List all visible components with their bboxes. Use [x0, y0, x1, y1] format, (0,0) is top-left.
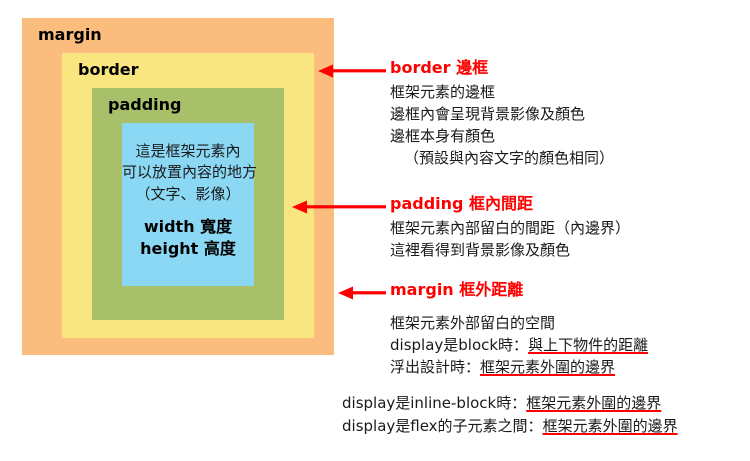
- annotation-line: 框架元素的邊框: [390, 81, 614, 103]
- annotation-line-prefix: 浮出設計時：: [390, 358, 480, 376]
- arrow-left-icon-padding: [292, 200, 386, 214]
- annotation-border: border 邊框 框架元素的邊框 邊框內會呈現背景影像及顏色 邊框本身有顏色 …: [390, 58, 614, 169]
- annotation-line-prefix: display是block時：: [390, 336, 528, 354]
- annotation-line: display是flex的子元素之間：框架元素外圍的邊界: [342, 415, 678, 438]
- annotation-border-body: 框架元素的邊框 邊框內會呈現背景影像及顏色 邊框本身有顏色 （預設與內容文字的顏…: [390, 81, 614, 169]
- padding-layer-label: padding: [108, 96, 181, 114]
- padding-layer: padding 這是框架元素內 可以放置內容的地方 （文字、影像） width …: [92, 88, 284, 320]
- annotation-line-prefix: display是inline-block時：: [342, 394, 526, 412]
- annotation-line: 浮出設計時：框架元素外圍的邊界: [390, 356, 648, 378]
- box-model-diagram: margin border padding 這是框架元素內 可以放置內容的地方 …: [0, 0, 750, 461]
- annotation-line-underlined: 框架元素外圍的邊界: [526, 394, 661, 412]
- content-layer: 這是框架元素內 可以放置內容的地方 （文字、影像） width 寬度 heigh…: [122, 123, 254, 286]
- annotation-margin-body: 框架元素外部留白的空間 display是block時：與上下物件的距離 浮出設計…: [390, 312, 648, 378]
- margin-layer-label: margin: [38, 26, 102, 44]
- annotation-line: display是inline-block時：框架元素外圍的邊界: [342, 392, 678, 415]
- annotation-line-underlined: 框架元素外圍的邊界: [543, 417, 678, 435]
- annotation-line: 邊框本身有顏色: [390, 125, 614, 147]
- annotation-line: 邊框內會呈現背景影像及顏色: [390, 103, 614, 125]
- annotation-line: 框架元素內部留白的間距（內邊界）: [390, 217, 630, 239]
- annotation-extra-lines: display是inline-block時：框架元素外圍的邊界 display是…: [342, 392, 678, 437]
- annotation-line: （預設與內容文字的顏色相同）: [390, 147, 614, 169]
- width-label: width 寬度: [122, 216, 254, 238]
- content-line: 這是框架元素內: [122, 141, 254, 162]
- margin-layer: margin border padding 這是框架元素內 可以放置內容的地方 …: [22, 18, 334, 355]
- border-layer: border padding 這是框架元素內 可以放置內容的地方 （文字、影像）…: [62, 53, 314, 338]
- content-dimensions: width 寬度 height 高度: [122, 216, 254, 260]
- annotation-line: display是block時：與上下物件的距離: [390, 334, 648, 356]
- arrow-left-icon-border: [318, 64, 386, 78]
- content-line: （文字、影像）: [122, 184, 254, 205]
- annotation-border-title: border 邊框: [390, 58, 614, 77]
- annotation-line: 這裡看得到背景影像及顏色: [390, 239, 630, 261]
- annotation-line-underlined: 框架元素外圍的邊界: [480, 358, 615, 376]
- annotation-padding-title: padding 框內間距: [390, 194, 630, 213]
- content-line: 可以放置內容的地方: [122, 162, 254, 183]
- annotation-line-prefix: display是flex的子元素之間：: [342, 417, 543, 435]
- arrow-left-icon-margin: [338, 286, 386, 300]
- annotation-line-underlined: 與上下物件的距離: [528, 336, 648, 354]
- annotation-padding: padding 框內間距 框架元素內部留白的間距（內邊界） 這裡看得到背景影像及…: [390, 194, 630, 261]
- annotation-margin: margin 框外距離 框架元素外部留白的空間 display是block時：與…: [390, 280, 648, 378]
- annotation-line: 框架元素外部留白的空間: [390, 312, 648, 334]
- border-layer-label: border: [78, 61, 139, 79]
- height-label: height 高度: [122, 238, 254, 260]
- annotation-margin-title: margin 框外距離: [390, 280, 648, 299]
- annotation-padding-body: 框架元素內部留白的間距（內邊界） 這裡看得到背景影像及顏色: [390, 217, 630, 261]
- content-text-block: 這是框架元素內 可以放置內容的地方 （文字、影像） width 寬度 heigh…: [122, 141, 254, 260]
